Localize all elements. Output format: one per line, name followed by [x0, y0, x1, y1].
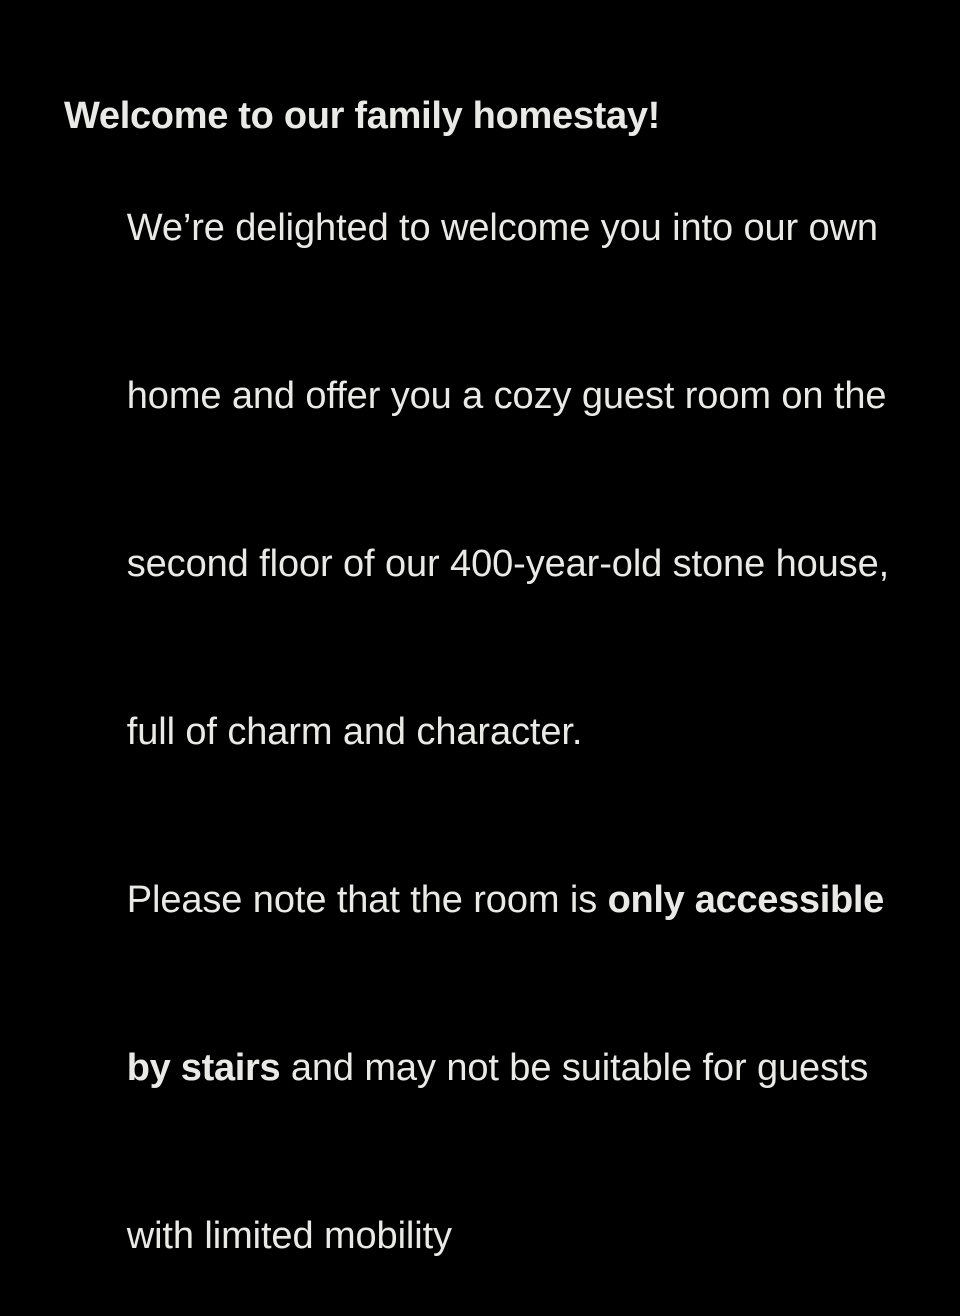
note-line-6-emphasis: only accessible [608, 879, 884, 921]
note-line-5-text: full of charm and character. [127, 711, 583, 753]
note-line-4: second floor of our 400-year-old stone h… [64, 480, 900, 648]
welcome-note-card: Welcome to our family homestay! We’re de… [64, 88, 900, 1316]
note-line-7: by stairs and may not be suitable for gu… [64, 984, 900, 1152]
note-line-6-text: Please note that the room is [127, 879, 608, 921]
note-line-7-emphasis: by stairs [127, 1047, 281, 1089]
note-heading: Welcome to our family homestay! [64, 88, 900, 144]
note-line-5: full of charm and character. [64, 648, 900, 816]
note-line-8-text: with limited mobility [127, 1215, 452, 1257]
note-line-3-text: home and offer you a cozy guest room on … [127, 375, 887, 417]
note-line-8: with limited mobility [64, 1152, 900, 1316]
note-line-2: We’re delighted to welcome you into our … [64, 144, 900, 312]
note-line-2-text: We’re delighted to welcome you into our … [127, 207, 878, 249]
screen-root: Welcome to our family homestay! We’re de… [0, 0, 960, 658]
note-line-3: home and offer you a cozy guest room on … [64, 312, 900, 480]
note-line-7-text: and may not be suitable for guests [280, 1047, 868, 1089]
note-line-6: Please note that the room is only access… [64, 816, 900, 984]
note-line-4-text: second floor of our 400-year-old stone h… [127, 543, 889, 585]
